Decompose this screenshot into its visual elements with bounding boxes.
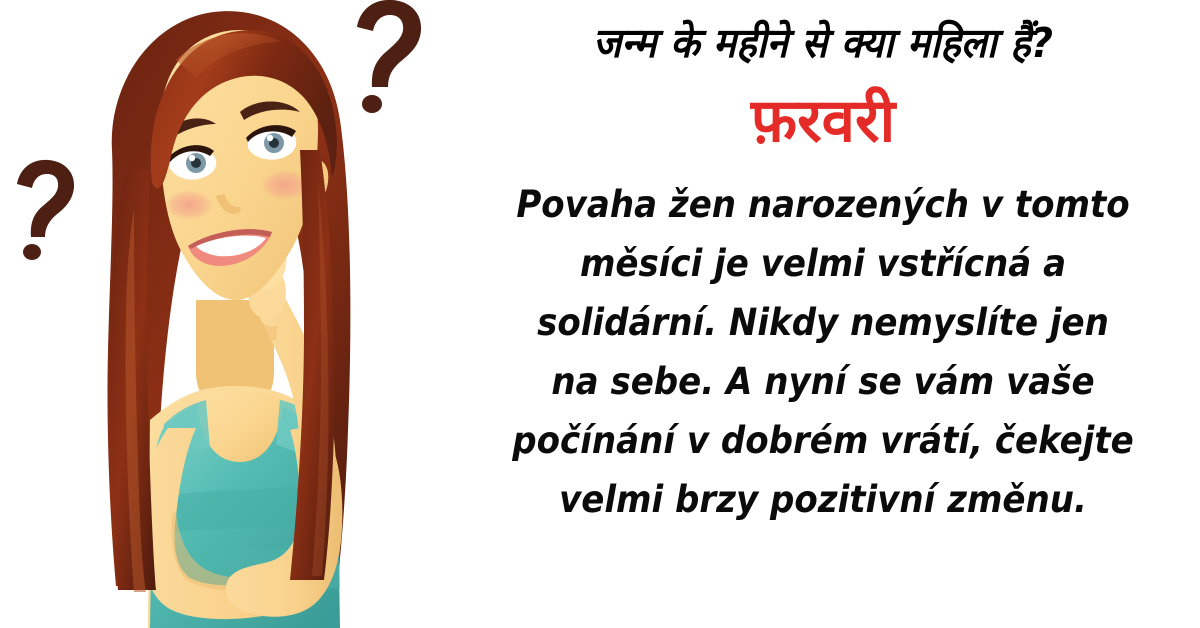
question-heading: जन्म के महीने से क्या महिला हैं? [593, 22, 1053, 65]
thinking-woman-illustration [0, 0, 450, 628]
text-column: जन्म के महीने से क्या महिला हैं? फ़रवरी … [446, 0, 1200, 628]
month-heading: फ़रवरी [751, 91, 895, 151]
body-text-line: velmi brzy pozitivní změnu. [487, 470, 1159, 529]
body-text-line: měsíci je velmi vstřícná a [487, 234, 1159, 293]
poster-root: जन्म के महीने से क्या महिला हैं? फ़रवरी … [0, 0, 1200, 628]
question-mark-small-icon [17, 160, 74, 260]
body-text-line: solidární. Nikdy nemyslíte jen [487, 293, 1159, 352]
question-mark-large-icon [357, 0, 421, 113]
body-text-line: Povaha žen narozených v tomto [487, 175, 1159, 234]
body-text-line: na sebe. A nyní se vám vaše [487, 352, 1159, 411]
body-text: Povaha žen narozených v tomto měsíci je … [458, 175, 1188, 529]
blush-left [165, 190, 213, 220]
body-text-line: počínání v dobrém vrátí, čekejte [487, 411, 1159, 470]
